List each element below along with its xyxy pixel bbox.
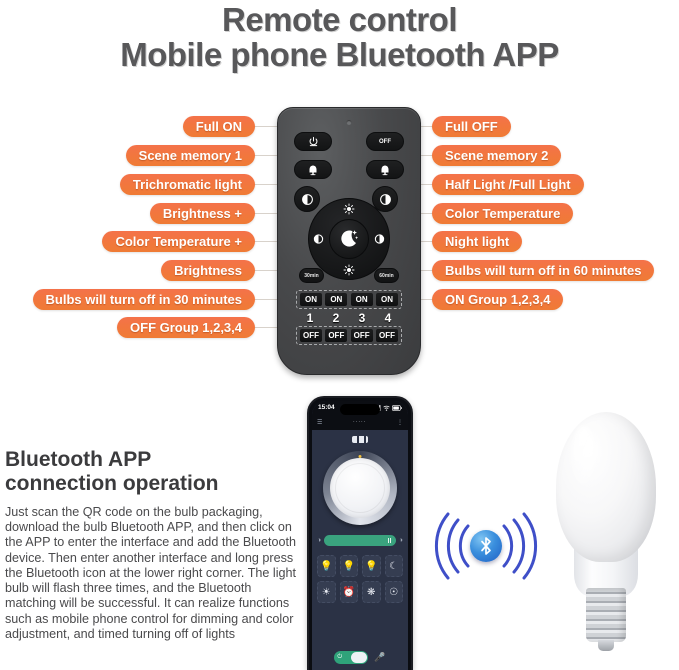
title-line-2: Mobile phone Bluetooth APP bbox=[0, 37, 679, 72]
half-circle-icon bbox=[301, 193, 314, 206]
lamp-icon bbox=[379, 164, 391, 176]
power-toggle-icon: ⏻ bbox=[337, 654, 342, 661]
group-off-1-button[interactable]: OFF bbox=[300, 329, 322, 342]
scene-memory-2-button[interactable] bbox=[366, 160, 404, 179]
brightness-down-button[interactable] bbox=[343, 264, 355, 276]
bluetooth-heading-line-1: Bluetooth APP bbox=[5, 448, 295, 472]
bulb-highlight bbox=[572, 426, 596, 488]
dimmer-dial[interactable] bbox=[323, 451, 397, 525]
power-icon bbox=[308, 136, 319, 147]
callout-brightness-up[interactable]: Brightness + bbox=[150, 203, 255, 224]
microphone-icon[interactable]: 🎤 bbox=[374, 652, 385, 663]
scene-button-grid: 💡 💡 💡 ☾ ☀ ⏰ ❋ ☉ bbox=[317, 555, 403, 603]
callout-trichromatic[interactable]: Trichromatic light bbox=[120, 174, 255, 195]
group-on-2-button[interactable]: ON bbox=[325, 293, 347, 306]
timer-60min-button[interactable]: 60min bbox=[374, 268, 399, 283]
dynamic-island bbox=[340, 404, 380, 415]
mode-indicator bbox=[352, 436, 368, 443]
brightness-up-button[interactable] bbox=[343, 203, 355, 215]
brightness-low-icon: ◑ bbox=[317, 537, 321, 544]
half-circle-icon bbox=[313, 234, 324, 245]
remote-control: OFF bbox=[277, 107, 421, 375]
slider-handle[interactable] bbox=[388, 538, 392, 543]
callout-full-on[interactable]: Full ON bbox=[183, 116, 255, 137]
scene-color-button[interactable]: ❋ bbox=[362, 581, 381, 603]
group-number-3: 3 bbox=[351, 310, 373, 325]
smartphone-mockup: 15:04 ☰ ····· ⋮ bbox=[307, 396, 413, 670]
callout-half-full-light[interactable]: Half Light /Full Light bbox=[432, 174, 584, 195]
scene-bluetooth-button[interactable]: ☉ bbox=[385, 581, 404, 603]
brightness-slider-row[interactable]: ◑ ◑ bbox=[317, 535, 403, 546]
group-on-3-button[interactable]: ON bbox=[351, 293, 373, 306]
group-number-4: 4 bbox=[377, 310, 399, 325]
bluetooth-signal-graphic bbox=[432, 492, 540, 600]
page-title: Remote control Mobile phone Bluetooth AP… bbox=[0, 0, 679, 73]
callout-timer-60[interactable]: Bulbs will turn off in 60 minutes bbox=[432, 260, 654, 281]
callout-off-group[interactable]: OFF Group 1,2,3,4 bbox=[117, 317, 255, 338]
callout-color-temp-up[interactable]: Color Temperature + bbox=[102, 231, 255, 252]
callout-scene-memory-1[interactable]: Scene memory 1 bbox=[126, 145, 255, 166]
scene-moon-button[interactable]: ☾ bbox=[385, 555, 404, 577]
timer-60min-label: 60min bbox=[379, 273, 393, 279]
group-on-row: ON ON ON ON bbox=[296, 290, 402, 309]
group-on-4-button[interactable]: ON bbox=[376, 293, 398, 306]
color-temp-up-button[interactable] bbox=[313, 234, 324, 245]
moon-stars-icon bbox=[337, 227, 361, 251]
bulb-glass bbox=[556, 412, 656, 562]
power-on-button[interactable] bbox=[294, 132, 332, 151]
bluetooth-section-heading: Bluetooth APP connection operation bbox=[5, 448, 295, 495]
dial-inner-circle bbox=[335, 463, 385, 513]
bulb-screw-base bbox=[586, 588, 626, 642]
night-light-button[interactable] bbox=[329, 219, 369, 259]
scene-bulb-2-button[interactable]: 💡 bbox=[340, 555, 359, 577]
brightness-high-icon: ◑ bbox=[399, 537, 403, 544]
callout-timer-30[interactable]: Bulbs will turn off in 30 minutes bbox=[33, 289, 255, 310]
power-off-button[interactable]: OFF bbox=[366, 132, 404, 151]
power-off-label: OFF bbox=[379, 139, 391, 145]
group-number-row: 1 2 3 4 bbox=[296, 309, 402, 326]
group-off-3-button[interactable]: OFF bbox=[351, 329, 373, 342]
group-off-2-button[interactable]: OFF bbox=[325, 329, 347, 342]
toggle-knob[interactable] bbox=[351, 652, 367, 663]
scene-bulb-1-button[interactable]: 💡 bbox=[317, 555, 336, 577]
dial-indicator-icon bbox=[359, 455, 362, 458]
callout-brightness[interactable]: Brightness bbox=[161, 260, 255, 281]
group-off-4-button[interactable]: OFF bbox=[376, 329, 398, 342]
battery-icon bbox=[392, 405, 402, 411]
scene-alarm-button[interactable]: ⏰ bbox=[340, 581, 359, 603]
led-bulb-graphic bbox=[548, 412, 664, 660]
lamp-icon bbox=[307, 164, 319, 176]
bluetooth-icon bbox=[470, 530, 502, 562]
group-on-1-button[interactable]: ON bbox=[300, 293, 322, 306]
timer-30min-label: 30min bbox=[304, 273, 318, 279]
brightness-slider[interactable] bbox=[324, 535, 396, 546]
half-circle-icon bbox=[379, 193, 392, 206]
group-number-1: 1 bbox=[299, 310, 321, 325]
status-time: 15:04 bbox=[318, 404, 335, 411]
bluetooth-glyph-icon bbox=[478, 536, 494, 556]
wifi-icon bbox=[383, 405, 390, 411]
color-temp-down-button[interactable] bbox=[374, 234, 385, 245]
power-toggle[interactable]: ⏻ bbox=[334, 651, 368, 664]
timer-30min-button[interactable]: 30min bbox=[299, 268, 324, 283]
sun-icon bbox=[343, 203, 355, 215]
bulb-contact-tip bbox=[598, 640, 614, 651]
group-keypad: ON ON ON ON 1 2 3 4 OFF OFF OFF OFF bbox=[296, 290, 402, 345]
phone-screen: 15:04 ☰ ····· ⋮ bbox=[312, 401, 408, 670]
menu-icon[interactable]: ☰ bbox=[317, 419, 322, 426]
more-icon[interactable]: ⋮ bbox=[397, 419, 403, 426]
callout-on-group[interactable]: ON Group 1,2,3,4 bbox=[432, 289, 563, 310]
scene-bulb-filled-button[interactable]: ☀ bbox=[317, 581, 336, 603]
title-line-1: Remote control bbox=[0, 2, 679, 37]
group-number-2: 2 bbox=[325, 310, 347, 325]
bluetooth-section-body: Just scan the QR code on the bulb packag… bbox=[5, 505, 297, 642]
callout-full-off[interactable]: Full OFF bbox=[432, 116, 511, 137]
trichromatic-light-button[interactable] bbox=[294, 186, 320, 212]
app-header: ☰ ····· ⋮ bbox=[312, 414, 408, 430]
app-title: ····· bbox=[353, 419, 366, 425]
callout-night-light[interactable]: Night light bbox=[432, 231, 522, 252]
scene-bulb-3-button[interactable]: 💡 bbox=[362, 555, 381, 577]
callout-scene-memory-2[interactable]: Scene memory 2 bbox=[432, 145, 561, 166]
scene-memory-1-button[interactable] bbox=[294, 160, 332, 179]
callout-color-temp[interactable]: Color Temperature bbox=[432, 203, 573, 224]
ir-led-icon bbox=[347, 120, 352, 125]
half-circle-icon bbox=[374, 234, 385, 245]
sun-icon bbox=[343, 264, 355, 276]
group-off-row: OFF OFF OFF OFF bbox=[296, 326, 402, 345]
bluetooth-heading-line-2: connection operation bbox=[5, 472, 295, 496]
phone-bottom-bar: ⏻ 🎤 bbox=[312, 644, 408, 670]
